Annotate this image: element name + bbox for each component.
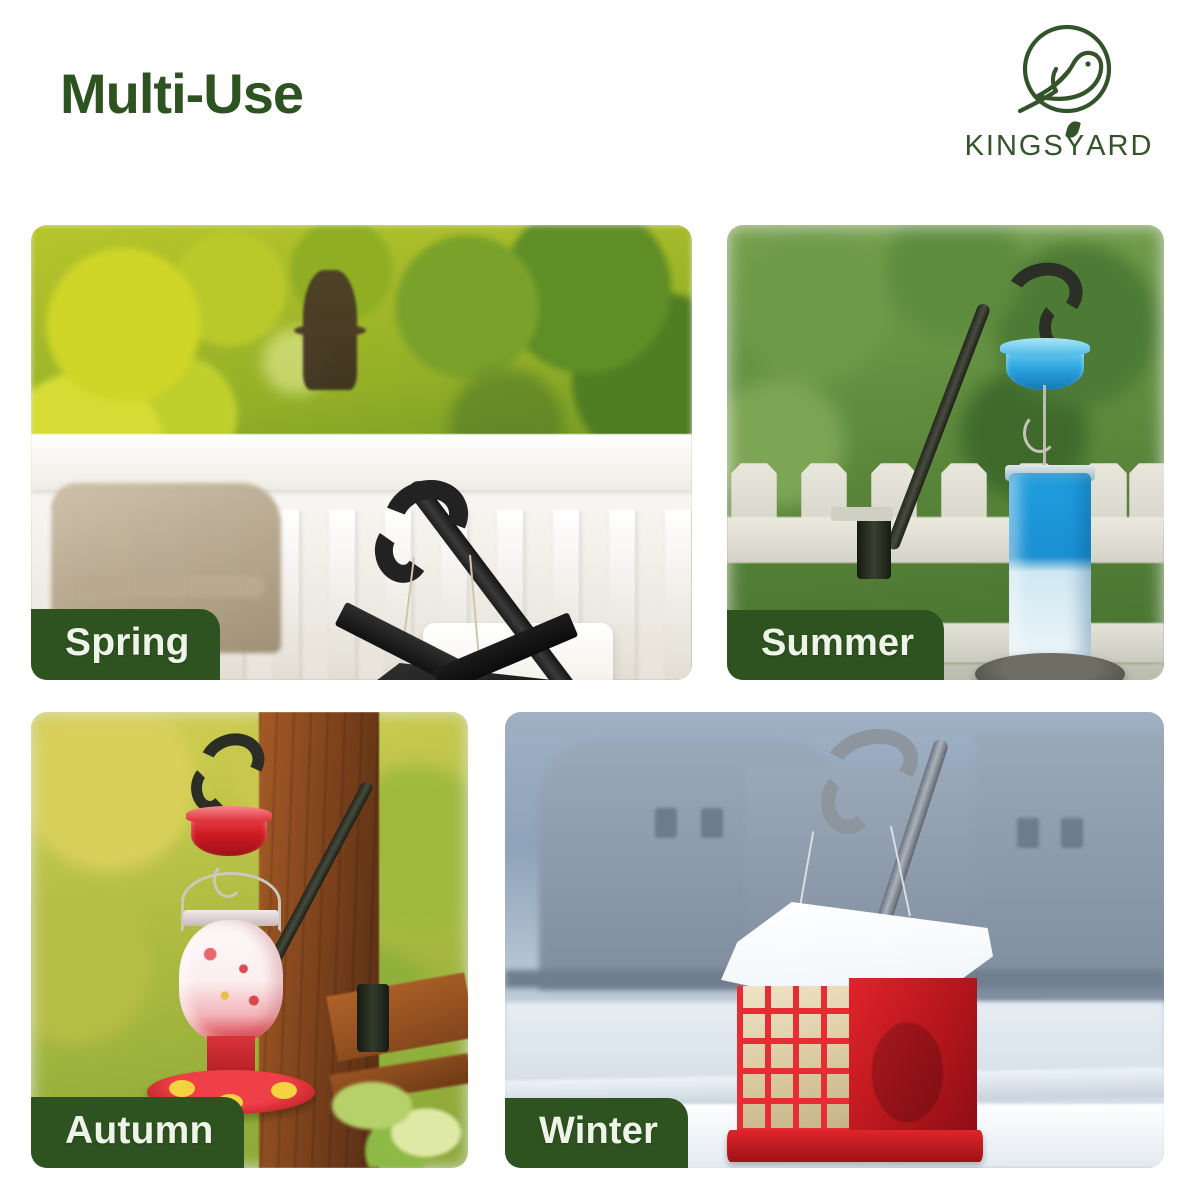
blue-flower-cap — [1006, 344, 1084, 390]
post-mount-bracket — [357, 984, 389, 1052]
shepherd-hook-tip — [821, 770, 875, 834]
feeder-suet-cage — [737, 986, 857, 1134]
brand-wordmark: KINGSYARD — [954, 130, 1164, 163]
feeder-port-flower — [271, 1082, 297, 1099]
feeder-port-flower — [169, 1080, 195, 1097]
shepherd-hook-tip — [191, 764, 229, 812]
fence-mount-bracket — [857, 517, 891, 579]
season-label-spring: Spring — [31, 609, 220, 680]
snow-covered-suet-feeder — [727, 902, 987, 1152]
picket-fence-tops — [727, 463, 1164, 521]
season-label-winter: Winter — [505, 1098, 688, 1168]
feeder-base-tray — [727, 1130, 983, 1162]
decorated-hummingbird-feeder — [179, 920, 283, 1042]
page-title: Multi-Use — [60, 66, 303, 122]
panel-autumn[interactable]: Autumn — [31, 712, 468, 1168]
railing-top-cap — [31, 434, 692, 490]
season-label-summer: Summer — [727, 610, 944, 680]
panel-summer[interactable]: Summer — [727, 225, 1164, 680]
season-label-autumn: Autumn — [31, 1097, 244, 1168]
building-window — [1061, 818, 1083, 848]
feeder-red-body — [849, 978, 977, 1138]
bird-in-circle-logo-icon — [1012, 22, 1116, 126]
brand-word-y: Y — [1065, 130, 1086, 163]
blue-glass-hummingbird-feeder — [1009, 473, 1091, 663]
fence-top-rail — [727, 517, 1164, 563]
brand-word-part-1: KINGS — [965, 130, 1065, 162]
building-window — [655, 808, 677, 838]
s-hook — [1023, 413, 1057, 453]
suet-bird-feeder — [329, 657, 561, 680]
panel-winter[interactable]: Winter — [505, 712, 1164, 1168]
header: Multi-Use KINGSYARD — [0, 0, 1200, 200]
brand-word-part-2: ARD — [1086, 130, 1153, 162]
red-flower-cap — [191, 812, 267, 856]
building-window — [1017, 818, 1039, 848]
brand-logo: KINGSYARD — [954, 22, 1164, 182]
panel-spring[interactable]: Spring — [31, 225, 692, 680]
variegated-plant-leaves — [327, 1064, 468, 1168]
deck-lamp — [303, 270, 357, 390]
infographic-page: Multi-Use KINGSYARD — [0, 0, 1200, 1200]
building-window — [701, 808, 723, 838]
background-building — [975, 732, 1164, 1002]
